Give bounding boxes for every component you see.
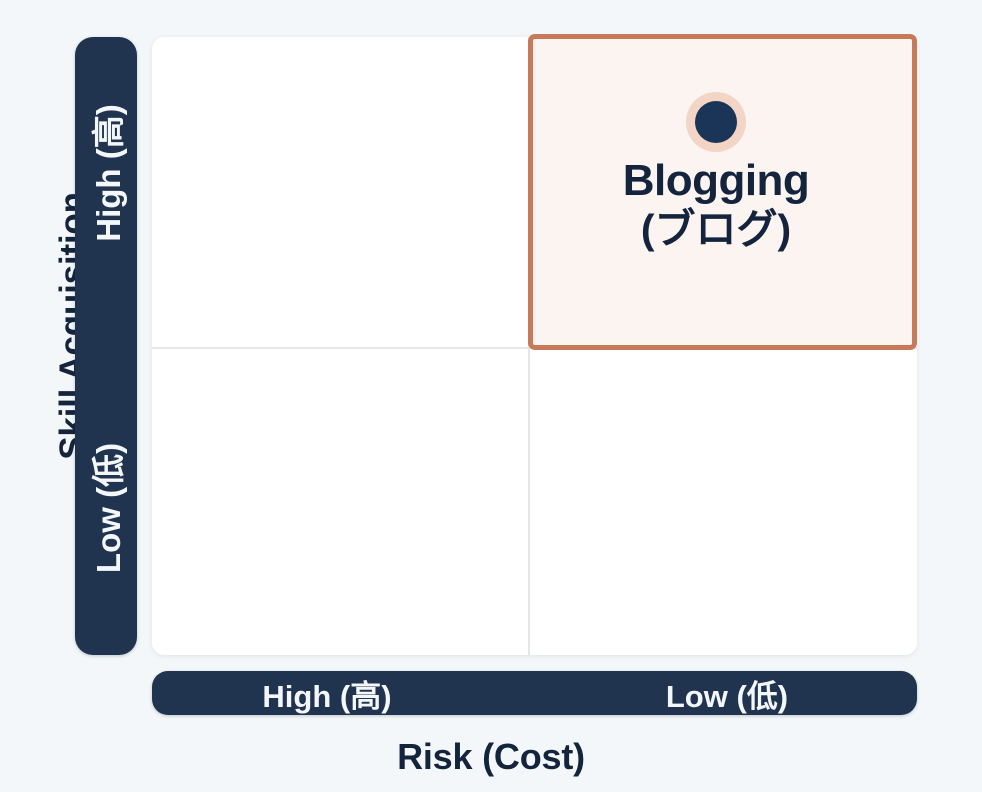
y-axis-tick-low: Low (低): [75, 358, 137, 658]
data-point-dot: [695, 101, 737, 143]
data-point-label-en: Blogging: [546, 157, 886, 205]
x-axis-bar: High (高) Low (低): [152, 671, 917, 715]
data-point-label-blogging: Blogging (ブログ): [546, 157, 886, 251]
data-point-blogging: [686, 92, 746, 152]
y-axis-tick-high: High (高): [75, 23, 137, 323]
data-point-label-jp: (ブログ): [546, 207, 886, 251]
x-axis-tick-high: High (高): [152, 671, 502, 715]
x-axis-tick-low: Low (低): [552, 671, 902, 715]
y-axis-bar: High (高) Low (低): [75, 37, 137, 655]
quadrant-matrix-chart: Skill Acquisition High (高) Low (低) Blogg…: [0, 0, 982, 792]
x-axis-title: Risk (Cost): [0, 736, 982, 778]
